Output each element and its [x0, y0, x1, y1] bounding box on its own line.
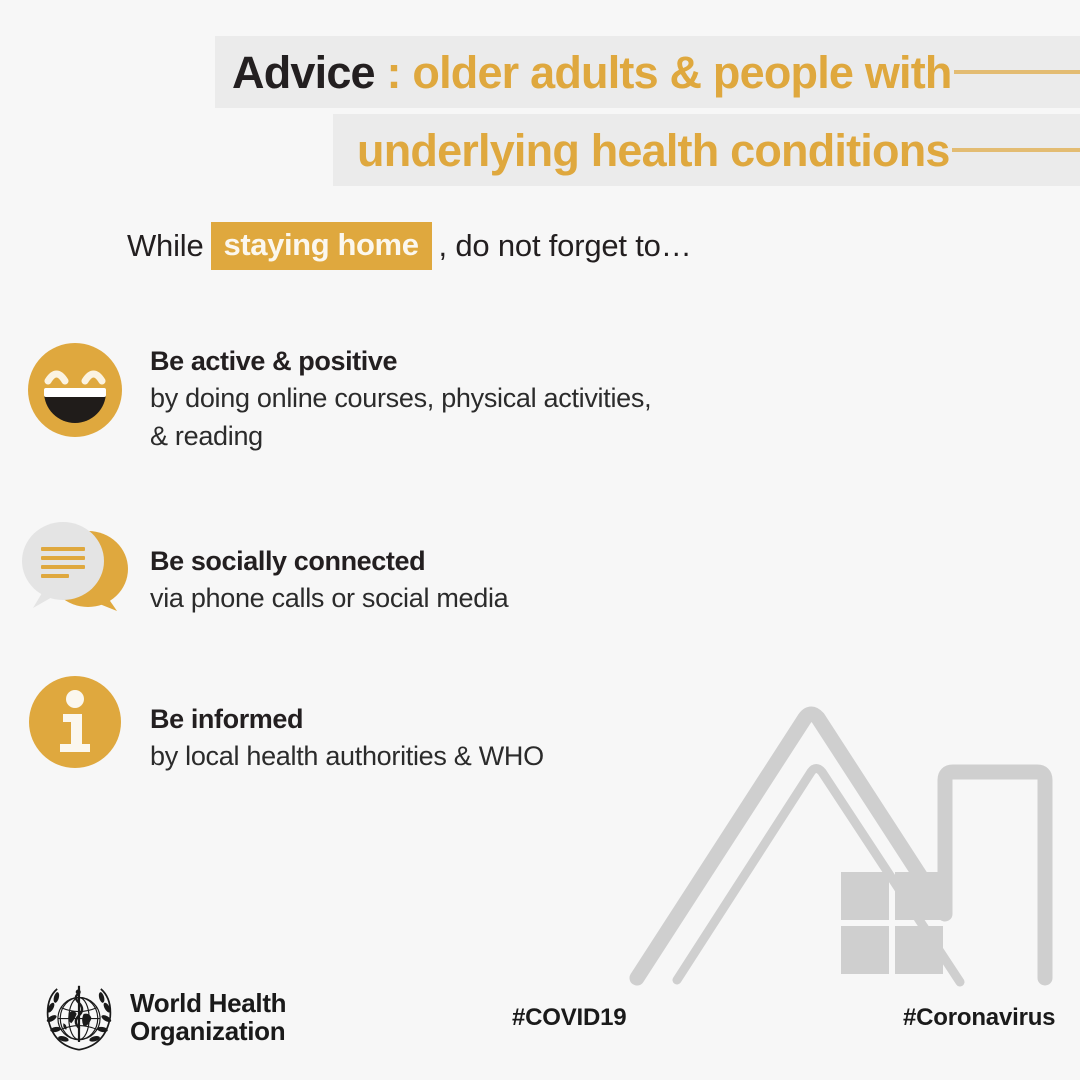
advice-copy-2: Be socially connected via phone calls or… — [150, 508, 508, 617]
who-advice-poster: Advice : older adults & people with unde… — [0, 0, 1080, 1080]
information-icon — [27, 674, 123, 770]
who-emblem-icon — [40, 978, 118, 1056]
hashtag-covid19: #COVID19 — [512, 1004, 626, 1032]
title-line-1-text: Advice : older adults & people with — [232, 50, 952, 95]
poster-footer: World Health Organization #COVID19 #Coro… — [0, 978, 1080, 1058]
advice-heading-2: Be socially connected — [150, 544, 508, 579]
who-logo: World Health Organization — [40, 978, 286, 1056]
title-separator: : — [375, 47, 413, 98]
poster-title: Advice : older adults & people with unde… — [0, 36, 1080, 186]
subtitle: Whilestaying home, do not forget to… — [127, 222, 692, 270]
advice-body-3: by local health authorities & WHO — [150, 737, 544, 775]
window-pane-bottom-left — [841, 926, 889, 974]
title-rule-1 — [954, 70, 1080, 74]
subtitle-highlight: staying home — [211, 222, 432, 270]
advice-body-1: by doing online courses, physical activi… — [150, 379, 651, 456]
title-line-1-gold: older adults & people with — [412, 47, 951, 98]
speech-bubbles-icon — [19, 516, 131, 622]
bubble-line-4 — [41, 574, 69, 578]
bubble-line-1 — [41, 547, 85, 551]
smiling-face-icon — [26, 341, 124, 439]
who-rod-of-asclepius — [76, 986, 82, 1042]
title-advice-word: Advice — [232, 47, 375, 98]
advice-heading-1: Be active & positive — [150, 344, 651, 379]
smiley-teeth — [44, 388, 106, 397]
advice-icon-wrapper-3 — [0, 674, 150, 770]
window-pane-top-right — [895, 872, 943, 920]
gray-bubble-body — [22, 522, 104, 600]
advice-copy-3: Be informed by local health authorities … — [150, 674, 544, 775]
advice-icon-wrapper-1 — [0, 336, 150, 439]
advice-list: Be active & positive by doing online cou… — [0, 336, 1080, 804]
subtitle-after: , do not forget to… — [439, 228, 692, 264]
title-line-2: underlying health conditions — [0, 114, 1080, 186]
info-dot — [66, 690, 84, 708]
advice-item-be-active: Be active & positive by doing online cou… — [0, 336, 1080, 508]
subtitle-before: While — [127, 228, 204, 264]
title-line-2-text: underlying health conditions — [357, 128, 950, 173]
title-rule-2 — [952, 148, 1080, 152]
window-panes — [841, 872, 943, 974]
advice-item-be-connected: Be socially connected via phone calls or… — [0, 508, 1080, 674]
window-pane-bottom-right — [895, 926, 943, 974]
bubble-line-3 — [41, 565, 85, 569]
advice-body-2: via phone calls or social media — [150, 579, 508, 617]
hashtag-coronavirus: #Coronavirus — [903, 1004, 1055, 1032]
window-pane-top-left — [841, 872, 889, 920]
advice-icon-wrapper-2 — [0, 508, 150, 622]
bubble-line-2 — [41, 556, 85, 560]
title-line-2-gold: underlying health conditions — [357, 125, 950, 176]
title-line-1: Advice : older adults & people with — [0, 36, 1080, 108]
advice-heading-3: Be informed — [150, 702, 544, 737]
advice-item-be-informed: Be informed by local health authorities … — [0, 674, 1080, 804]
advice-copy-1: Be active & positive by doing online cou… — [150, 336, 651, 455]
who-organization-name: World Health Organization — [130, 989, 286, 1045]
